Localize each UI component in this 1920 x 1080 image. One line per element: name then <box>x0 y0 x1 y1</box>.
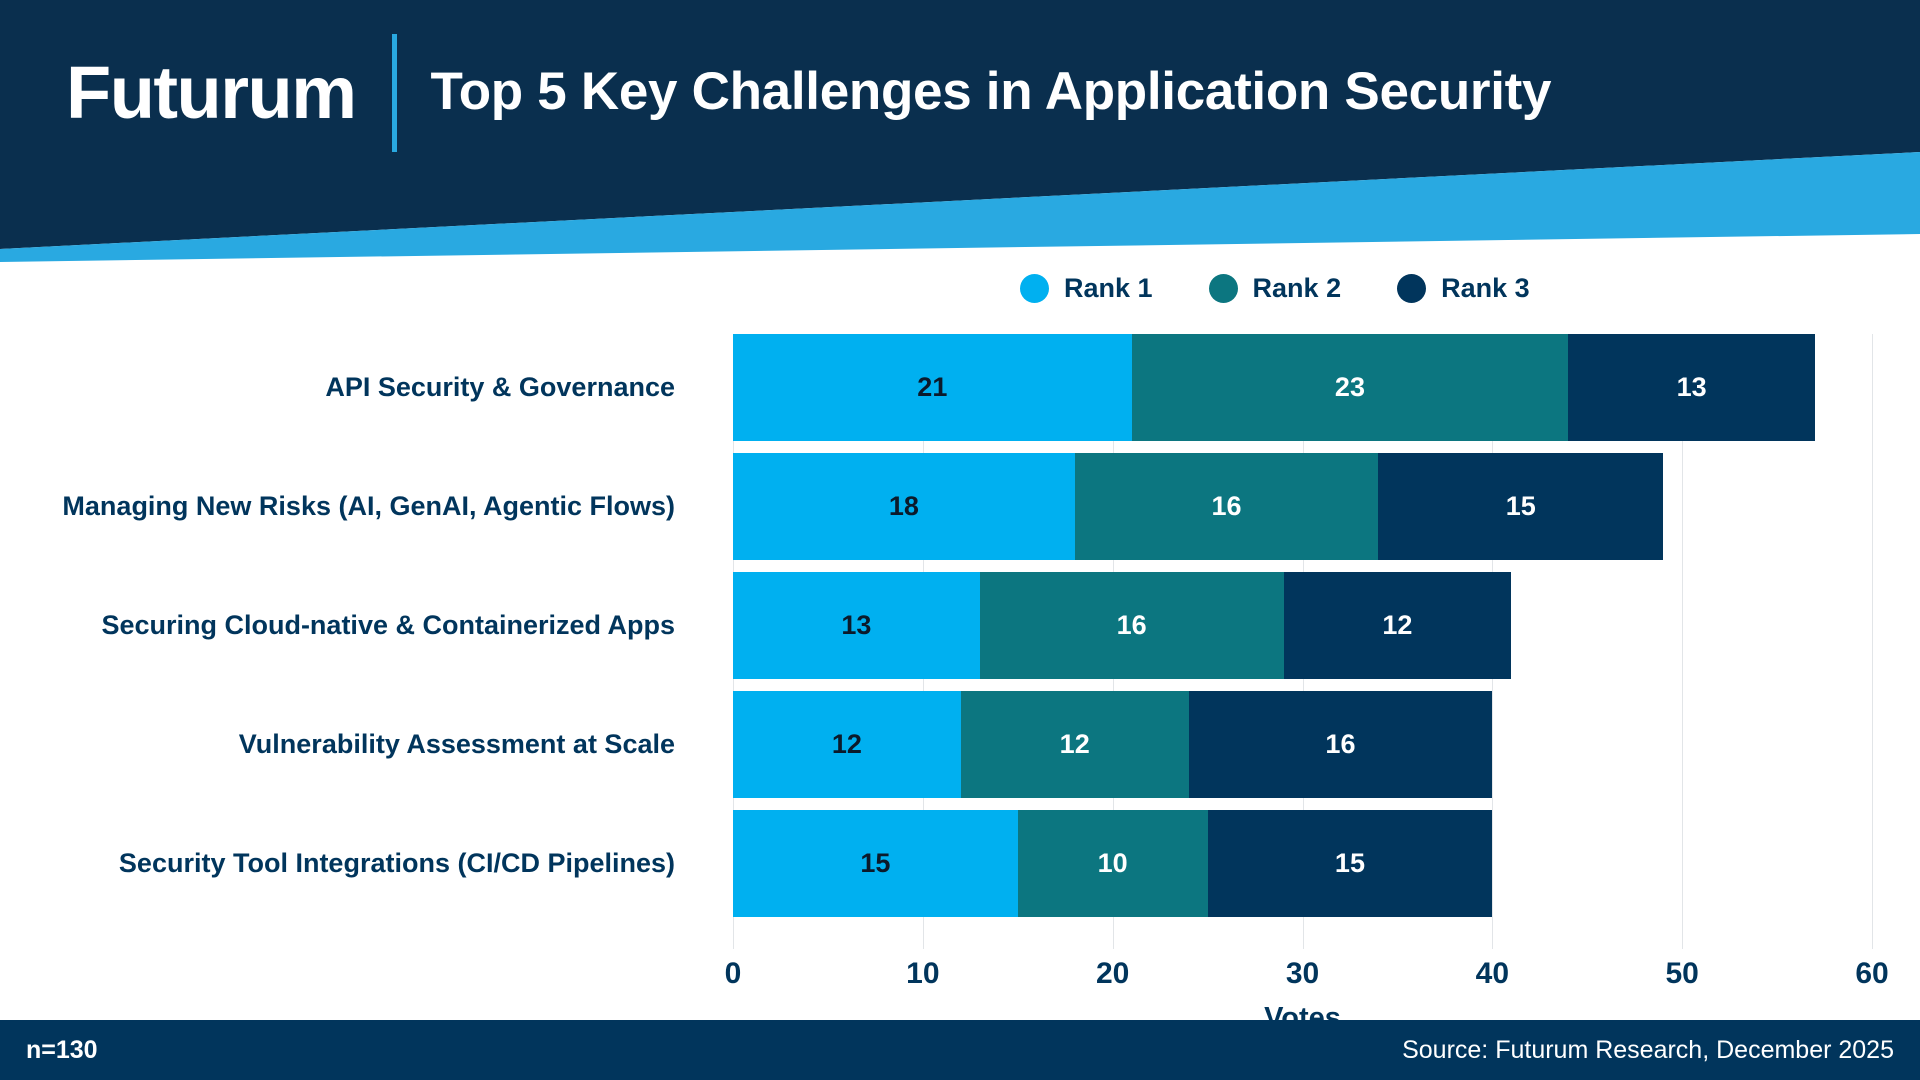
bar-segment[interactable]: 12 <box>961 691 1189 798</box>
bar-segment[interactable]: 21 <box>733 334 1132 441</box>
x-tick-label: 50 <box>1665 957 1698 991</box>
bar-segment[interactable]: 13 <box>1568 334 1815 441</box>
gridline <box>1872 334 1873 949</box>
legend-swatch-icon <box>1020 274 1049 303</box>
bar-segment[interactable]: 15 <box>1378 453 1663 560</box>
category-label: Managing New Risks (AI, GenAI, Agentic F… <box>0 453 703 560</box>
x-tick-label: 20 <box>1096 957 1129 991</box>
footer-bar: n=130 Source: Futurum Research, December… <box>0 1020 1920 1080</box>
bar-segment[interactable]: 13 <box>733 572 980 679</box>
page-title: Top 5 Key Challenges in Application Secu… <box>431 62 1552 123</box>
bar-segment[interactable]: 16 <box>1189 691 1493 798</box>
stacked-bar-chart: API Security & GovernanceManaging New Ri… <box>0 320 1920 1020</box>
bar-segment[interactable]: 12 <box>733 691 961 798</box>
bar-segment[interactable]: 18 <box>733 453 1075 560</box>
legend-swatch-icon <box>1397 274 1426 303</box>
category-label: Securing Cloud-native & Containerized Ap… <box>0 572 703 679</box>
header-content: Futurum Top 5 Key Challenges in Applicat… <box>0 0 1920 185</box>
bar-row: 181615 <box>733 453 1872 560</box>
x-tick-label: 40 <box>1476 957 1509 991</box>
legend-swatch-icon <box>1209 274 1238 303</box>
x-axis-ticks: 0102030405060 <box>733 949 1872 999</box>
chart-legend: Rank 1 Rank 2 Rank 3 <box>1020 262 1640 314</box>
header-divider <box>392 34 397 152</box>
bar-segment[interactable]: 15 <box>733 810 1018 917</box>
bar-row: 131612 <box>733 572 1872 679</box>
legend-label: Rank 1 <box>1064 273 1153 304</box>
bar-segment[interactable]: 16 <box>980 572 1284 679</box>
legend-label: Rank 3 <box>1441 273 1530 304</box>
category-label: API Security & Governance <box>0 334 703 441</box>
x-tick-label: 0 <box>725 957 742 991</box>
bar-row: 151015 <box>733 810 1872 917</box>
x-tick-label: 60 <box>1855 957 1888 991</box>
bar-segment[interactable]: 15 <box>1208 810 1493 917</box>
sample-size-label: n=130 <box>26 1036 98 1065</box>
legend-item-rank-3[interactable]: Rank 3 <box>1397 273 1530 304</box>
infographic-page: Futurum Top 5 Key Challenges in Applicat… <box>0 0 1920 1080</box>
category-axis-labels: API Security & GovernanceManaging New Ri… <box>0 334 703 929</box>
category-label: Vulnerability Assessment at Scale <box>0 691 703 798</box>
header-banner: Futurum Top 5 Key Challenges in Applicat… <box>0 0 1920 262</box>
bar-rows: 212313181615131612121216151015 <box>733 334 1872 929</box>
bar-segment[interactable]: 23 <box>1132 334 1569 441</box>
legend-item-rank-2[interactable]: Rank 2 <box>1209 273 1342 304</box>
x-tick-label: 10 <box>906 957 939 991</box>
bar-segment[interactable]: 16 <box>1075 453 1379 560</box>
bar-segment[interactable]: 12 <box>1284 572 1512 679</box>
source-label: Source: Futurum Research, December 2025 <box>1402 1036 1894 1065</box>
x-tick-label: 30 <box>1286 957 1319 991</box>
legend-label: Rank 2 <box>1253 273 1342 304</box>
category-label: Security Tool Integrations (CI/CD Pipeli… <box>0 810 703 917</box>
futurum-logo: Futurum <box>66 56 356 130</box>
bar-row: 121216 <box>733 691 1872 798</box>
legend-item-rank-1[interactable]: Rank 1 <box>1020 273 1153 304</box>
bar-row: 212313 <box>733 334 1872 441</box>
bar-segment[interactable]: 10 <box>1018 810 1208 917</box>
plot-area: 212313181615131612121216151015 <box>733 334 1872 949</box>
